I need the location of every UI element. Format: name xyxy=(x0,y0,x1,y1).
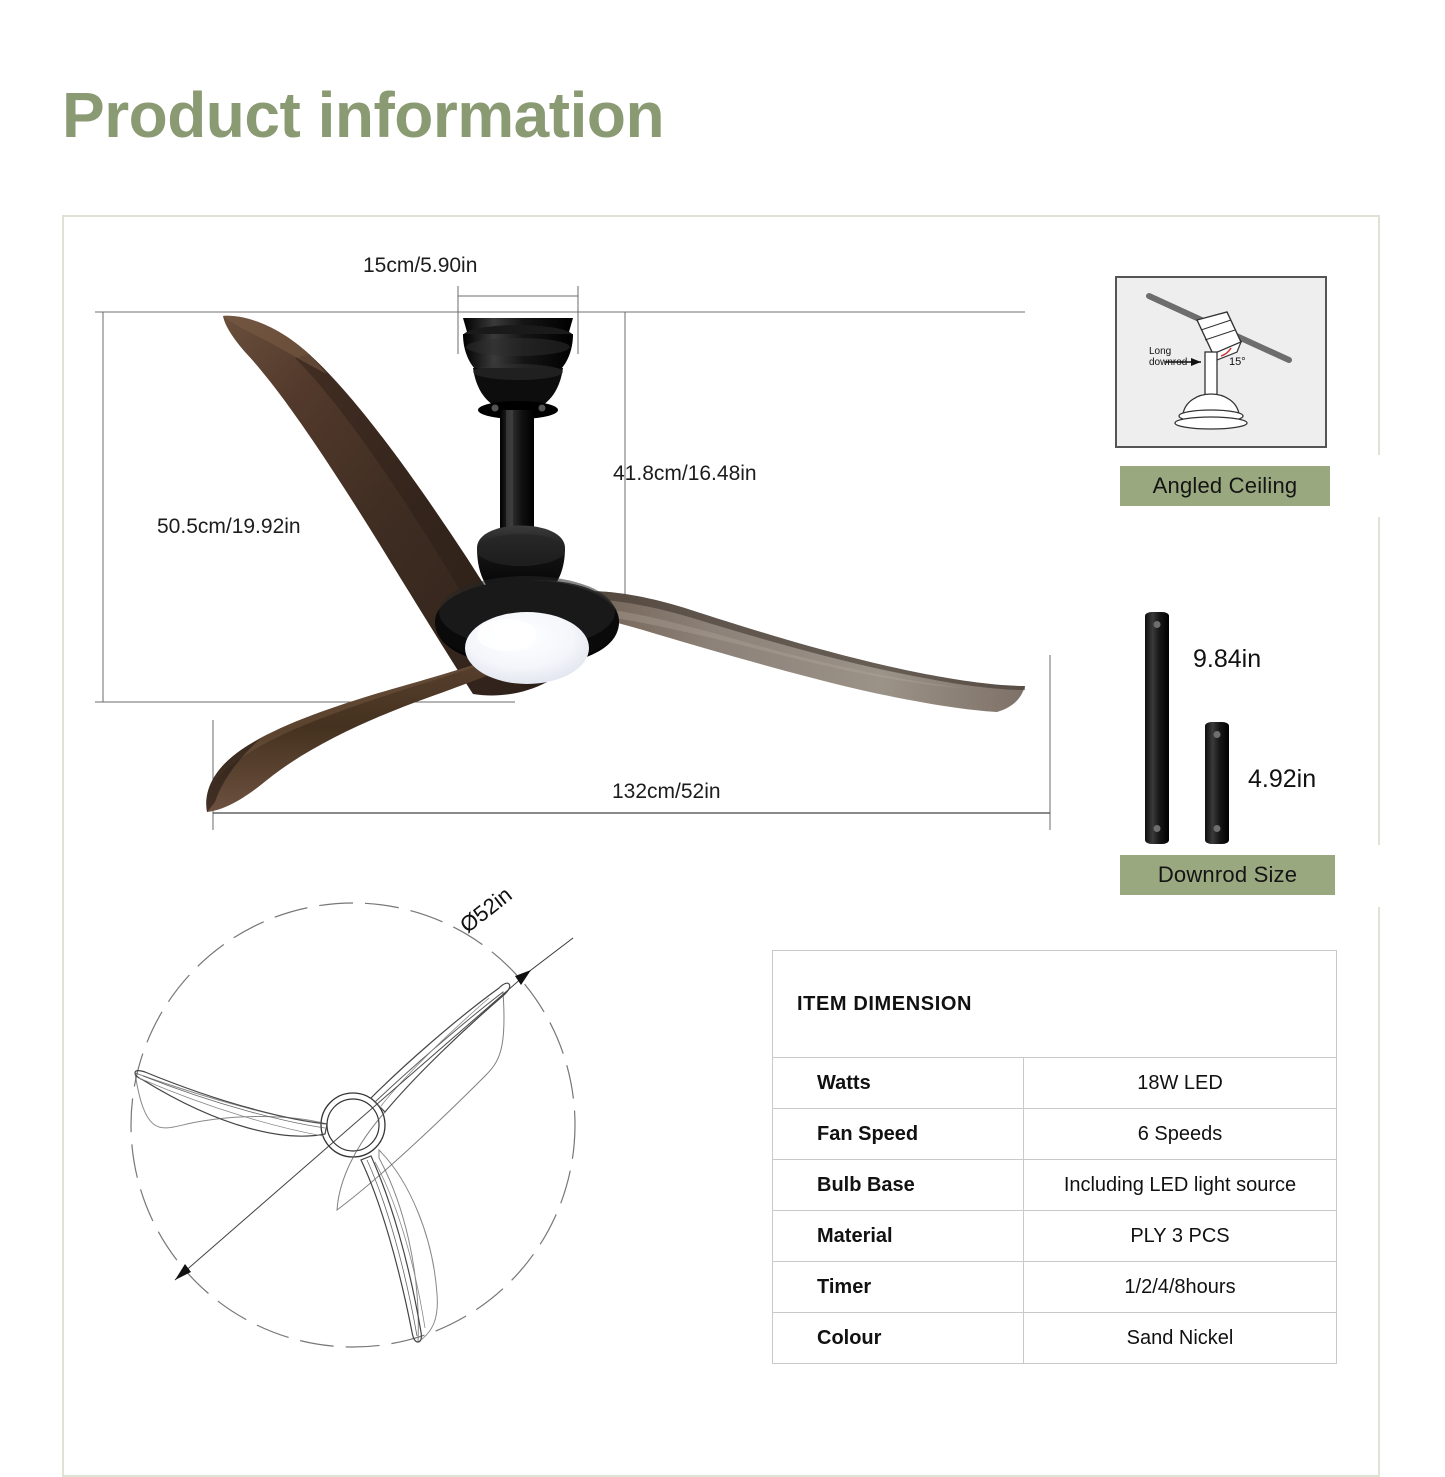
row-key: Fan Speed xyxy=(773,1109,1024,1160)
dim-total-height: 50.5cm/19.92in xyxy=(157,515,301,539)
fan-top-view-diagram: Ø52in xyxy=(103,880,633,1370)
fan-blade-right xyxy=(547,591,1025,712)
table-row: Timer 1/2/4/8hours xyxy=(773,1262,1337,1313)
table-row: Fan Speed 6 Speeds xyxy=(773,1109,1337,1160)
table-row: Watts 18W LED xyxy=(773,1058,1337,1109)
long-downrod-label: Long downrod xyxy=(1149,346,1187,368)
item-dimension-table: ITEM DIMENSION Watts 18W LED Fan Speed 6… xyxy=(772,950,1337,1364)
dim-blade-span: 132cm/52in xyxy=(612,780,721,804)
row-value: PLY 3 PCS xyxy=(1024,1211,1337,1262)
downrod-short-label: 4.92in xyxy=(1248,765,1316,794)
fan-side-view-diagram: 15cm/5.90in 41.8cm/16.48in 50.5cm/19.92i… xyxy=(95,250,1095,860)
table-row: Material PLY 3 PCS xyxy=(773,1211,1337,1262)
row-value: Sand Nickel xyxy=(1024,1313,1337,1364)
fan-side-view-svg xyxy=(95,250,1095,860)
dim-canopy-width: 15cm/5.90in xyxy=(363,254,477,278)
canopy xyxy=(463,318,573,419)
table-row: Bulb Base Including LED light source xyxy=(773,1160,1337,1211)
table-header-row: ITEM DIMENSION xyxy=(773,951,1337,1058)
row-value: 6 Speeds xyxy=(1024,1109,1337,1160)
table-title: ITEM DIMENSION xyxy=(773,951,1337,1058)
row-value: 18W LED xyxy=(1024,1058,1337,1109)
row-value: Including LED light source xyxy=(1024,1160,1337,1211)
frame-gap-top xyxy=(1375,455,1383,517)
downrod-long-label: 9.84in xyxy=(1193,645,1261,674)
led-light-dome xyxy=(465,612,589,684)
downrod-short xyxy=(1205,722,1229,844)
page-title: Product information xyxy=(62,78,664,152)
angled-ceiling-caption: Angled Ceiling xyxy=(1120,466,1330,506)
angle-15-label: 15° xyxy=(1229,356,1246,368)
row-key: Timer xyxy=(773,1262,1024,1313)
row-key: Watts xyxy=(773,1058,1024,1109)
downrod-long xyxy=(1145,612,1169,844)
downrod-size-caption: Downrod Size xyxy=(1120,855,1335,895)
fan-top-view-svg xyxy=(103,880,633,1370)
table-row: Colour Sand Nickel xyxy=(773,1313,1337,1364)
angled-ceiling-illustration: Long downrod 15° xyxy=(1115,276,1327,448)
row-key: Material xyxy=(773,1211,1024,1262)
dim-drop-height: 41.8cm/16.48in xyxy=(613,462,757,486)
row-value: 1/2/4/8hours xyxy=(1024,1262,1337,1313)
row-key: Colour xyxy=(773,1313,1024,1364)
row-key: Bulb Base xyxy=(773,1160,1024,1211)
frame-gap-bottom xyxy=(1375,845,1383,907)
